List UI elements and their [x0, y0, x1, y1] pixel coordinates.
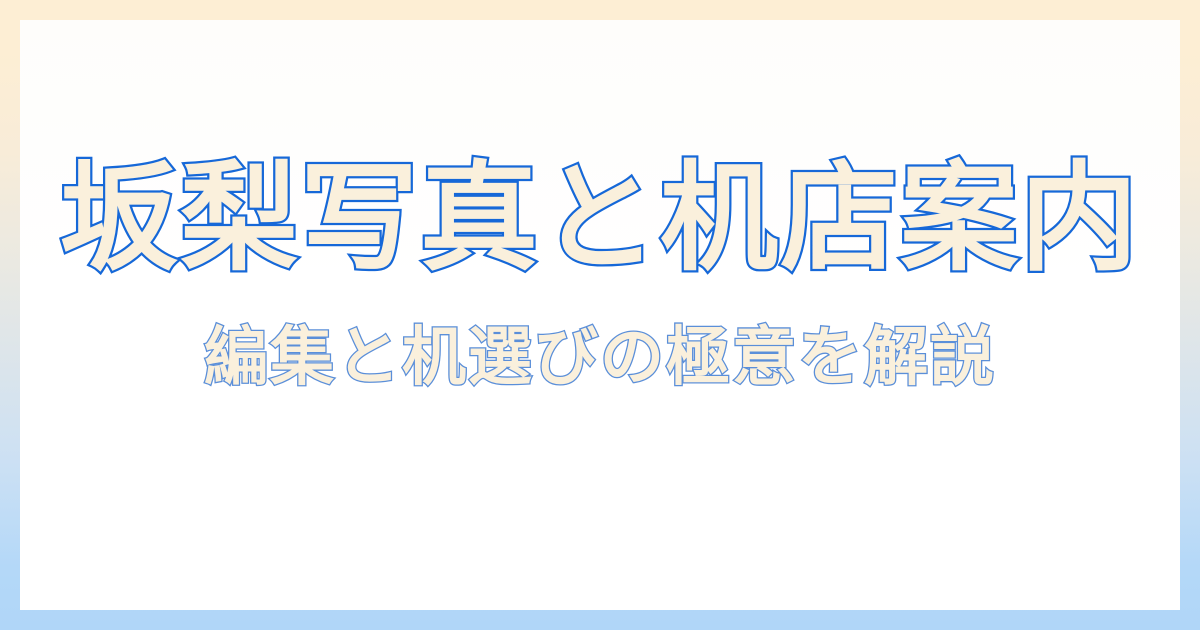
page-title: 坂梨写真と机店案内: [20, 156, 1180, 281]
page-subtitle: 編集と机選びの極意を解説: [20, 323, 1180, 393]
eyecatch-card: 坂梨写真と机店案内 編集と机選びの極意を解説: [0, 0, 1200, 630]
inner-panel: 坂梨写真と机店案内 編集と机選びの極意を解説: [20, 20, 1180, 610]
text-stack: 坂梨写真と机店案内 編集と机選びの極意を解説: [20, 156, 1180, 393]
